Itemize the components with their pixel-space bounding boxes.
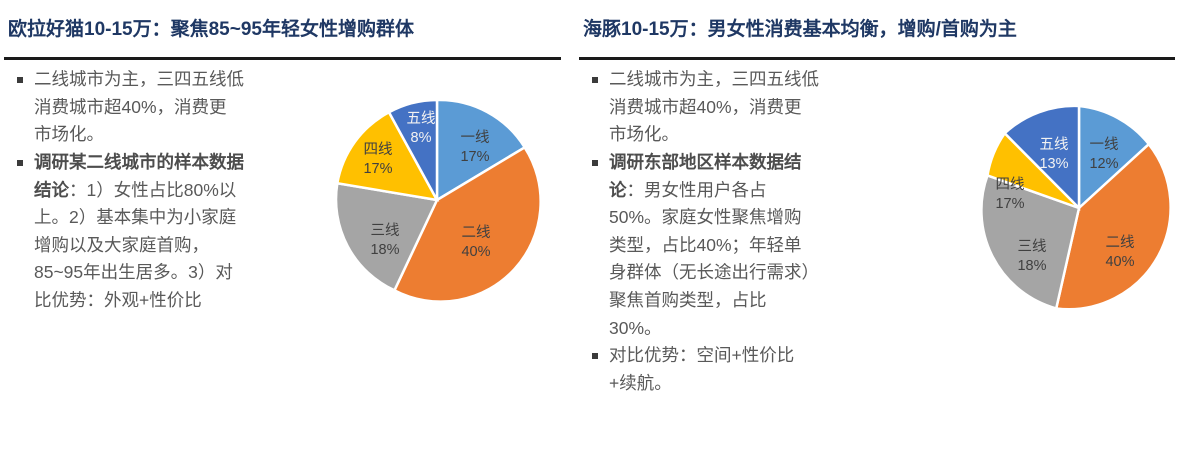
left-pie-svg: 一线 17% 二线 40% 三线 18% 四线 17% 五线 8% <box>330 93 544 307</box>
right-panel-title: 海豚10-15万：男女性消费基本均衡，增购/首购为主 <box>583 18 1017 42</box>
pie-label-val-3: 18% <box>1017 258 1046 274</box>
pie-label-val-4: 17% <box>363 161 392 177</box>
pie-label-val-2: 40% <box>461 244 490 260</box>
pie-label-val-5: 13% <box>1039 156 1068 172</box>
left-panel-title: 欧拉好猫10-15万：聚焦85~95年轻女性增购群体 <box>8 18 414 42</box>
list-item: 二线城市为主，三四五线低消费城市超40%，消费更市场化。 <box>8 66 244 149</box>
pie-label-val-1: 12% <box>1089 156 1118 172</box>
pie-label-cat-2: 二线 <box>462 224 491 241</box>
pie-label-val-4: 17% <box>995 196 1024 212</box>
left-pie-slices <box>336 100 541 302</box>
pie-label-val-5: 8% <box>411 130 432 146</box>
pie-label-cat-1: 一线 <box>461 129 490 146</box>
pie-label-cat-2: 二线 <box>1106 234 1135 251</box>
right-pie-svg: 一线 12% 二线 40% 三线 18% 四线 17% 五线 13% <box>970 99 1181 317</box>
bullet-text: 二线城市为主，三四五线低消费城市超40%，消费更市场化。 <box>34 69 244 144</box>
right-title-divider <box>579 57 1175 60</box>
left-title-divider <box>4 57 561 60</box>
pie-label-cat-4: 四线 <box>364 141 393 158</box>
list-item: 对比优势：空间+性价比+续航。 <box>583 342 819 397</box>
pie-label-cat-5: 五线 <box>407 110 436 127</box>
bullet-text: 对比优势：空间+性价比+续航。 <box>609 345 794 393</box>
bullet-text: 二线城市为主，三四五线低消费城市超40%，消费更市场化。 <box>609 69 819 144</box>
bullet-text: ：男女性用户各占50%。家庭女性聚焦增购类型，占比40%；年轻单身群体（无长途出… <box>609 180 819 338</box>
pie-label-val-1: 17% <box>460 149 489 165</box>
right-bullet-list: 二线城市为主，三四五线低消费城市超40%，消费更市场化。 调研东部地区样本数据结… <box>583 66 819 398</box>
pie-label-cat-4: 四线 <box>996 176 1025 193</box>
pie-label-cat-1: 一线 <box>1090 136 1119 153</box>
right-panel: 海豚10-15万：男女性消费基本均衡，增购/首购为主 二线城市为主，三四五线低消… <box>575 0 1181 465</box>
list-item: 二线城市为主，三四五线低消费城市超40%，消费更市场化。 <box>583 66 819 149</box>
left-bullet-list: 二线城市为主，三四五线低消费城市超40%，消费更市场化。 调研某二线城市的样本数… <box>8 66 244 315</box>
list-item: 调研某二线城市的样本数据结论：1）女性占比80%以上。2）基本集中为小家庭增购以… <box>8 149 244 315</box>
right-pie-chart: 一线 12% 二线 40% 三线 18% 四线 17% 五线 13% <box>970 99 1181 317</box>
pie-label-cat-5: 五线 <box>1040 136 1069 153</box>
left-panel: 欧拉好猫10-15万：聚焦85~95年轻女性增购群体 二线城市为主，三四五线低消… <box>0 0 575 465</box>
pie-label-val-2: 40% <box>1105 254 1134 270</box>
left-pie-chart: 一线 17% 二线 40% 三线 18% 四线 17% 五线 8% <box>330 93 544 307</box>
pie-label-cat-3: 三线 <box>371 222 400 239</box>
pie-label-cat-3: 三线 <box>1018 238 1047 255</box>
slide-root: 欧拉好猫10-15万：聚焦85~95年轻女性增购群体 二线城市为主，三四五线低消… <box>0 0 1181 465</box>
pie-label-val-3: 18% <box>370 242 399 258</box>
list-item: 调研东部地区样本数据结论：男女性用户各占50%。家庭女性聚焦增购类型，占比40%… <box>583 149 819 342</box>
